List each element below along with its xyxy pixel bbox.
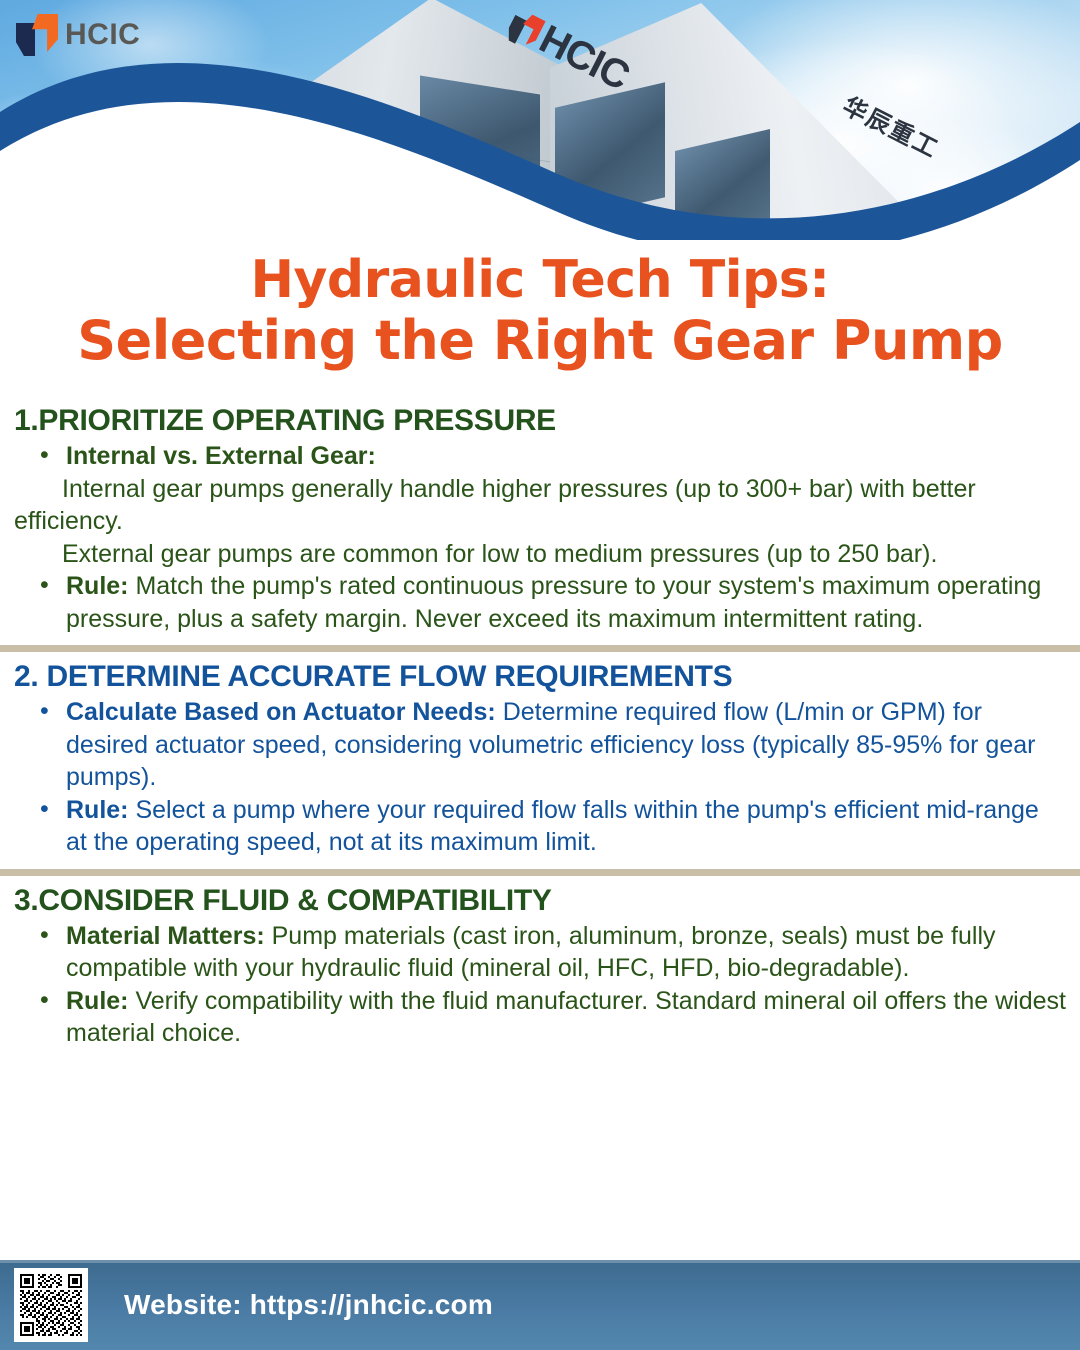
section-3-heading: 3.CONSIDER FLUID & COMPATIBILITY: [14, 884, 1066, 918]
list-item: Rule: Match the pump's rated continuous …: [14, 570, 1066, 635]
qr-code-icon[interactable]: [14, 1268, 88, 1342]
blue-wave-divider: [0, 0, 1080, 240]
bullet-label: Rule:: [66, 796, 129, 824]
list-item: Rule: Select a pump where your required …: [14, 794, 1066, 859]
section-1-heading: 1.PRIORITIZE OPERATING PRESSURE: [14, 404, 1066, 438]
section-1-rule-list: Rule: Match the pump's rated continuous …: [14, 570, 1066, 635]
bullet-text: Match the pump's rated continuous pressu…: [66, 572, 1041, 633]
section-1-list: Internal vs. External Gear:: [14, 440, 1066, 473]
website-label[interactable]: Website: https://jnhcic.com: [124, 1289, 493, 1321]
bullet-text: Select a pump where your required flow f…: [66, 796, 1039, 857]
title-line-1: Hydraulic Tech Tips:: [0, 250, 1080, 310]
section-1-paragraph-1: Internal gear pumps generally handle hig…: [14, 473, 1066, 538]
list-item: Rule: Verify compatibility with the flui…: [14, 985, 1066, 1050]
title-line-2: Selecting the Right Gear Pump: [0, 310, 1080, 373]
brand-logo-text: HCIC: [65, 18, 140, 52]
section-prioritize-operating-pressure: 1.PRIORITIZE OPERATING PRESSURE Internal…: [0, 404, 1080, 635]
qr-code-svg: [18, 1272, 84, 1338]
section-determine-accurate-flow-requirements: 2. DETERMINE ACCURATE FLOW REQUIREMENTS …: [0, 660, 1080, 859]
bullet-label: Rule:: [66, 987, 129, 1015]
bullet-label: Rule:: [66, 572, 129, 600]
section-2-list: Calculate Based on Actuator Needs: Deter…: [14, 696, 1066, 859]
header-banner: HCIC 华辰重工 HCIC: [0, 0, 1080, 240]
section-consider-fluid-compatibility: 3.CONSIDER FLUID & COMPATIBILITY Materia…: [0, 884, 1080, 1050]
list-item: Internal vs. External Gear:: [14, 440, 1066, 473]
content-body: 1.PRIORITIZE OPERATING PRESSURE Internal…: [0, 404, 1080, 1050]
list-item: Material Matters: Pump materials (cast i…: [14, 920, 1066, 985]
bullet-label: Calculate Based on Actuator Needs:: [66, 698, 496, 726]
footer-bar: Website: https://jnhcic.com: [0, 1260, 1080, 1350]
brand-logo: HCIC: [16, 14, 140, 56]
section-2-heading: 2. DETERMINE ACCURATE FLOW REQUIREMENTS: [14, 660, 1066, 694]
page-title: Hydraulic Tech Tips: Selecting the Right…: [0, 250, 1080, 373]
list-item: Calculate Based on Actuator Needs: Deter…: [14, 696, 1066, 794]
hcic-logo-mark-icon: [16, 14, 56, 56]
section-divider: [0, 645, 1080, 652]
bullet-label: Material Matters:: [66, 922, 265, 950]
section-1-paragraph-2: External gear pumps are common for low t…: [14, 538, 1066, 571]
bullet-text: Verify compatibility with the fluid manu…: [66, 987, 1066, 1048]
section-3-list: Material Matters: Pump materials (cast i…: [14, 920, 1066, 1050]
bullet-label: Internal vs. External Gear:: [66, 442, 376, 470]
section-divider: [0, 869, 1080, 876]
